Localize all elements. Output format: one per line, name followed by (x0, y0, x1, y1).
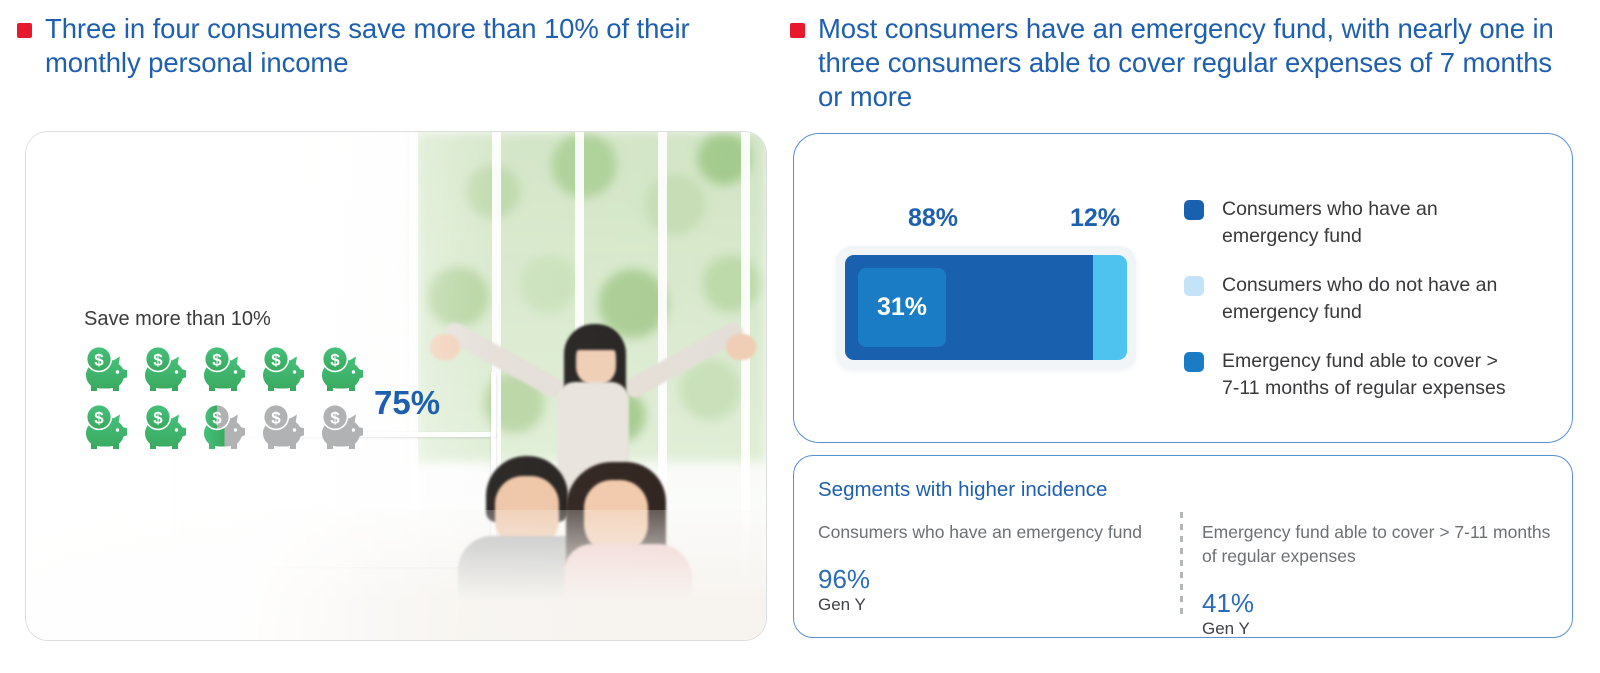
piggy-bank-2: $ (141, 344, 193, 396)
stacked-bar-container: 31% (836, 246, 1136, 369)
piggy-bank-10: $ (318, 402, 370, 454)
save-percent-value: 75% (374, 384, 440, 422)
piggy-bank-icon: $ (200, 402, 252, 454)
segments-column-divider (1180, 512, 1183, 618)
piggy-bank-icon: $ (82, 402, 134, 454)
piggy-bank-7: $ (141, 402, 193, 454)
left-panel-heading: Three in four consumers save more than 1… (17, 12, 777, 80)
svg-text:$: $ (212, 350, 222, 369)
segment-description: Emergency fund able to cover > 7-11 mont… (1202, 520, 1554, 568)
svg-text:$: $ (271, 408, 281, 427)
legend-label: Consumers who have an emergency fund (1222, 196, 1514, 250)
legend-swatch-icon (1184, 352, 1204, 372)
segments-card: Segments with higher incidence Consumers… (793, 455, 1573, 638)
piggy-bank-icon: $ (141, 344, 193, 396)
segment-generation: Gen Y (818, 594, 1170, 616)
left-heading-text: Three in four consumers save more than 1… (45, 12, 777, 80)
svg-text:$: $ (94, 408, 104, 427)
segment-column-have-fund: Consumers who have an emergency fund 96%… (818, 520, 1170, 640)
svg-text:$: $ (153, 350, 163, 369)
segment-generation: Gen Y (1202, 618, 1554, 640)
piggy-bank-icon: $ (141, 402, 193, 454)
bar-value-labels: 88% 12% (842, 204, 1142, 234)
piggy-bank-8: $ (200, 402, 252, 454)
legend-swatch-icon (1184, 276, 1204, 296)
piggy-bank-icon: $ (259, 402, 311, 454)
piggy-bank-icon: $ (259, 344, 311, 396)
bar-label-no-fund: 12% (1070, 204, 1120, 233)
bar-label-have-fund: 88% (908, 204, 958, 233)
svg-text:$: $ (94, 350, 104, 369)
red-square-bullet-icon (17, 23, 32, 38)
legend-item-0: Consumers who have an emergency fund (1184, 196, 1514, 250)
segment-percent: 96% (818, 564, 1170, 594)
svg-text:$: $ (271, 350, 281, 369)
bar-segment-have-fund: 31% (845, 255, 1093, 360)
svg-text:$: $ (153, 408, 163, 427)
piggy-bank-4: $ (259, 344, 311, 396)
photo-card: Save more than 10% $ $ (26, 132, 766, 640)
segment-description: Consumers who have an emergency fund (818, 520, 1170, 544)
segment-percent: 41% (1202, 588, 1554, 618)
piggy-bank-pictogram: $ $ $ (82, 344, 382, 460)
save-more-label: Save more than 10% (84, 308, 271, 331)
piggy-bank-icon: $ (82, 344, 134, 396)
segment-column-7-11-months: Emergency fund able to cover > 7-11 mont… (1202, 520, 1554, 640)
piggy-bank-icon: $ (318, 344, 370, 396)
bar-inset-7-11-months: 31% (858, 268, 946, 347)
piggy-bank-icon: $ (200, 344, 252, 396)
svg-text:$: $ (330, 350, 340, 369)
legend-swatch-icon (1184, 200, 1204, 220)
right-panel-heading: Most consumers have an emergency fund, w… (790, 12, 1580, 114)
piggy-bank-6: $ (82, 402, 134, 454)
legend-item-2: Emergency fund able to cover > 7-11 mont… (1184, 348, 1514, 402)
piggy-bank-icon: $ (318, 402, 370, 454)
svg-text:$: $ (212, 408, 222, 427)
legend-label: Emergency fund able to cover > 7-11 mont… (1222, 348, 1514, 402)
legend-label: Consumers who do not have an emergency f… (1222, 272, 1514, 326)
chart-legend: Consumers who have an emergency fundCons… (1184, 196, 1514, 424)
segments-columns: Consumers who have an emergency fund 96%… (818, 520, 1554, 640)
piggy-bank-9: $ (259, 402, 311, 454)
piggy-bank-3: $ (200, 344, 252, 396)
svg-text:$: $ (330, 408, 340, 427)
stacked-bar: 31% (845, 255, 1127, 360)
infographic-page: Three in four consumers save more than 1… (0, 0, 1600, 673)
red-square-bullet-icon (790, 23, 805, 38)
bar-segment-no-fund (1093, 255, 1127, 360)
piggy-bank-5: $ (318, 344, 370, 396)
bar-inset-label: 31% (877, 293, 927, 322)
legend-item-1: Consumers who do not have an emergency f… (1184, 272, 1514, 326)
segments-card-title: Segments with higher incidence (818, 478, 1107, 502)
piggy-bank-1: $ (82, 344, 134, 396)
right-heading-text: Most consumers have an emergency fund, w… (818, 12, 1580, 114)
